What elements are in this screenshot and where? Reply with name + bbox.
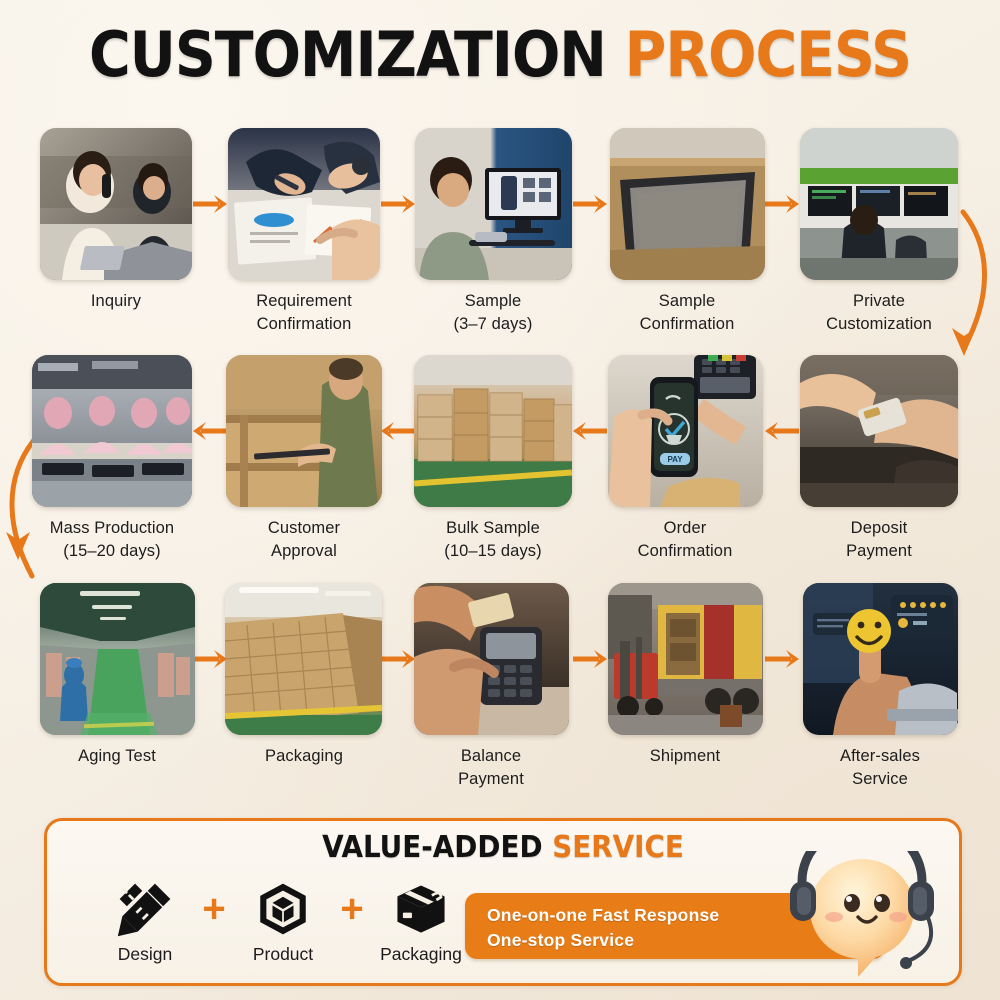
title-part-2: PROCESS — [625, 18, 911, 91]
value-added-title-part-1: VALUE-ADDED — [322, 830, 542, 865]
caption-line-2: Confirmation — [594, 540, 776, 563]
value-item-label: Product — [237, 944, 329, 965]
step-photo — [803, 583, 958, 735]
step-photo — [415, 128, 572, 280]
scene-sample-confirmation — [610, 128, 765, 280]
scene-requirement-confirmation — [228, 128, 380, 280]
scene-balance-payment — [414, 583, 569, 735]
caption-line-1: Aging Test — [78, 747, 156, 765]
box-icon — [375, 877, 467, 941]
page-title: CUSTOMIZATION PROCESS — [0, 24, 1000, 86]
scene-packaging — [225, 583, 382, 735]
step-caption: Order Confirmation — [594, 517, 776, 564]
caption-line-2: Confirmation — [214, 313, 394, 336]
caption-line-1: Mass Production — [14, 517, 210, 540]
caption-line-2: Confirmation — [596, 313, 778, 336]
step-caption: Packaging — [213, 745, 395, 768]
caption-line-2: (10–15 days) — [402, 540, 584, 563]
scene-private-customization — [800, 128, 958, 280]
caption-line-2: Service — [789, 768, 971, 791]
step-caption: Requirement Confirmation — [214, 290, 394, 337]
caption-line-2: Payment — [788, 540, 970, 563]
plus-separator-2: + — [329, 877, 375, 941]
caption-line-2: Approval — [212, 540, 396, 563]
scene-after-sales-service — [803, 583, 958, 735]
pencil-ruler-icon — [99, 877, 191, 941]
step-photo — [226, 355, 382, 507]
svg-text:PAY: PAY — [667, 455, 683, 464]
step-caption: Aging Test — [26, 745, 208, 768]
caption-line-2: Payment — [400, 768, 582, 791]
step-photo — [40, 583, 195, 735]
headset-support-mascot-icon — [780, 851, 970, 981]
scene-aging-test — [40, 583, 195, 735]
step-photo — [610, 128, 765, 280]
step-caption: Shipment — [594, 745, 776, 768]
value-added-title-part-2: SERVICE — [552, 830, 684, 865]
caption-line-1: Inquiry — [91, 292, 141, 310]
value-item-packaging[interactable]: Packaging — [375, 877, 467, 965]
step-photo — [32, 355, 192, 507]
value-item-label: Packaging — [375, 944, 467, 965]
step-photo — [608, 583, 763, 735]
caption-line-1: After-sales — [789, 745, 971, 768]
step-caption: Inquiry — [26, 290, 206, 313]
caption-line-1: Balance — [400, 745, 582, 768]
caption-line-1: Sample — [403, 290, 583, 313]
caption-line-1: Bulk Sample — [402, 517, 584, 540]
service-message-line-2: One-stop Service — [487, 930, 634, 951]
scene-mass-production — [32, 355, 192, 507]
scene-sample-design — [415, 128, 572, 280]
step-photo: PAY — [608, 355, 763, 507]
step-caption: After-sales Service — [789, 745, 971, 792]
caption-line-1: Deposit — [788, 517, 970, 540]
plus-separator-1: + — [191, 877, 237, 941]
caption-line-1: Packaging — [265, 747, 343, 765]
step-caption: Deposit Payment — [788, 517, 970, 564]
caption-line-1: Requirement — [214, 290, 394, 313]
step-caption: Private Customization — [788, 290, 970, 337]
caption-line-1: Shipment — [650, 747, 721, 765]
step-photo — [225, 583, 382, 735]
value-item-product[interactable]: Product — [237, 877, 329, 965]
caption-line-2: (3–7 days) — [403, 313, 583, 336]
step-caption: Customer Approval — [212, 517, 396, 564]
caption-line-1: Order — [594, 517, 776, 540]
caption-line-2: (15–20 days) — [14, 540, 210, 563]
scene-deposit-payment — [800, 355, 958, 507]
scene-customer-approval — [226, 355, 382, 507]
hex-cube-icon — [237, 877, 329, 941]
step-caption: Mass Production (15–20 days) — [14, 517, 210, 564]
scene-shipment — [608, 583, 763, 735]
value-added-service-panel: VALUE-ADDED SERVICE — [44, 818, 962, 986]
step-photo — [40, 128, 192, 280]
step-caption: Sample Confirmation — [596, 290, 778, 337]
scene-bulk-sample — [414, 355, 572, 507]
service-message-line-1: One-on-one Fast Response — [487, 905, 719, 926]
step-photo — [414, 355, 572, 507]
scene-inquiry — [40, 128, 192, 280]
value-item-design[interactable]: Design — [99, 877, 191, 965]
step-photo — [800, 355, 958, 507]
title-part-1: CUSTOMIZATION — [89, 18, 606, 91]
step-caption: Bulk Sample (10–15 days) — [402, 517, 584, 564]
step-caption: Balance Payment — [400, 745, 582, 792]
step-photo — [414, 583, 569, 735]
step-photo — [800, 128, 958, 280]
scene-order-confirmation: PAY — [608, 355, 763, 507]
caption-line-1: Sample — [596, 290, 778, 313]
value-item-label: Design — [99, 944, 191, 965]
caption-line-1: Private — [788, 290, 970, 313]
step-caption: Sample (3–7 days) — [403, 290, 583, 337]
caption-line-1: Customer — [212, 517, 396, 540]
caption-line-2: Customization — [788, 313, 970, 336]
step-photo — [228, 128, 380, 280]
value-added-items: Design + Product + — [99, 877, 467, 965]
